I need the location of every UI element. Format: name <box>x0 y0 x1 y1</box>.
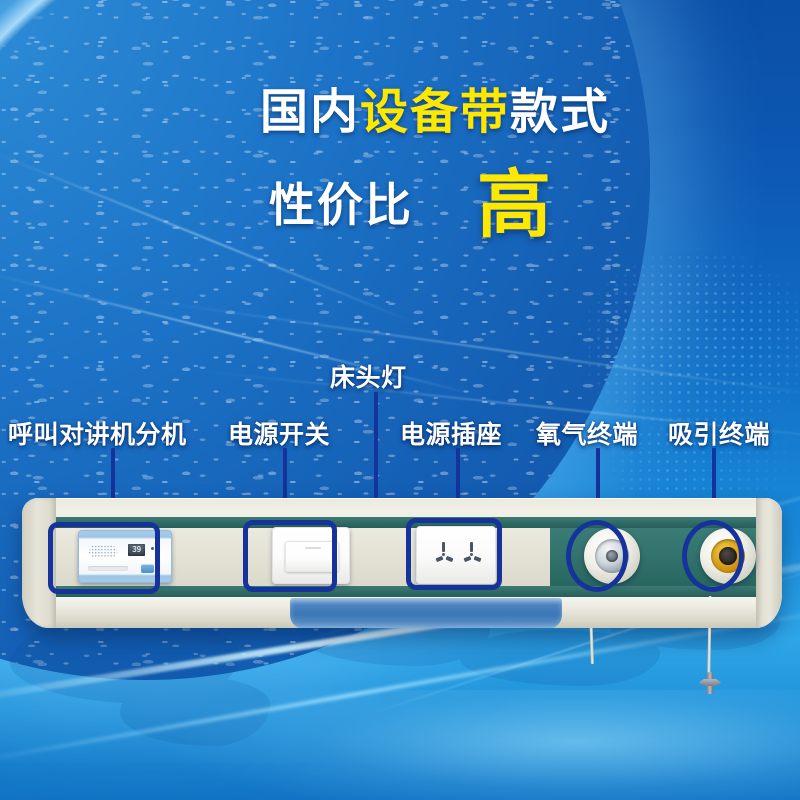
intercom-slot <box>88 566 128 571</box>
oxygen-terminal[interactable] <box>584 528 640 584</box>
rocker-switch[interactable] <box>285 541 339 572</box>
speaker-grille-icon <box>88 545 118 558</box>
product-poster: 国内设备带款式 性价比高 呼叫对讲机分机 电源开关 床头灯 电源插座 氧气终端 … <box>0 0 800 800</box>
power-socket-plate[interactable] <box>416 526 496 584</box>
unit-end-cap-left <box>22 498 56 628</box>
socket-pin-right <box>474 556 482 562</box>
suction-cord-plug <box>699 672 721 694</box>
socket-pin-left <box>436 556 444 562</box>
intercom-display: 39 <box>128 544 145 556</box>
bed-lamp-diffuser[interactable] <box>290 598 562 628</box>
horizon-glow <box>0 690 800 800</box>
socket-pin-dot <box>470 553 473 556</box>
headline-line2-white: 性价比 <box>269 178 413 232</box>
socket-outlet-right[interactable] <box>459 541 485 569</box>
unit-stripe-bottom <box>56 586 756 597</box>
bed-head-unit: 39 <box>22 498 782 628</box>
callout-label-power-socket: 电源插座 <box>400 415 502 451</box>
headline-line-1: 国内设备带款式 <box>0 88 790 136</box>
socket-pin-right <box>446 556 454 562</box>
headline-line1-yellow: 设备带 <box>360 84 510 140</box>
callout-label-oxygen: 氧气终端 <box>536 415 638 451</box>
socket-outlet-left[interactable] <box>431 541 457 569</box>
callout-label-intercom: 呼叫对讲机分机 <box>8 415 187 451</box>
headline-line-2: 性价比高 <box>0 168 800 242</box>
headline-line1-white-b: 款式 <box>510 84 610 140</box>
suction-terminal[interactable] <box>700 528 756 584</box>
indicator-led-icon <box>151 547 154 550</box>
intercom-call-button[interactable] <box>141 564 154 573</box>
headline-line1-white-a: 国内 <box>260 84 360 140</box>
callout-label-suction: 吸引终端 <box>668 415 770 451</box>
suction-terminal-port <box>719 547 737 565</box>
unit-body: 39 <box>22 498 782 628</box>
callout-label-bed-lamp: 床头灯 <box>330 358 407 394</box>
oxygen-terminal-port <box>606 550 618 562</box>
unit-end-cap-right <box>756 498 782 628</box>
socket-pin-dot <box>442 553 445 556</box>
unit-stripe-top <box>56 517 756 528</box>
plug-wings <box>699 679 721 686</box>
socket-pin-left <box>464 556 472 562</box>
power-switch-plate[interactable] <box>272 527 350 584</box>
nurse-call-intercom[interactable]: 39 <box>78 530 172 583</box>
headline-line2-yellow: 高 <box>477 162 551 248</box>
callout-label-power-switch: 电源开关 <box>228 415 330 451</box>
socket-pin-vertical <box>470 542 473 552</box>
socket-pin-vertical <box>442 542 445 552</box>
